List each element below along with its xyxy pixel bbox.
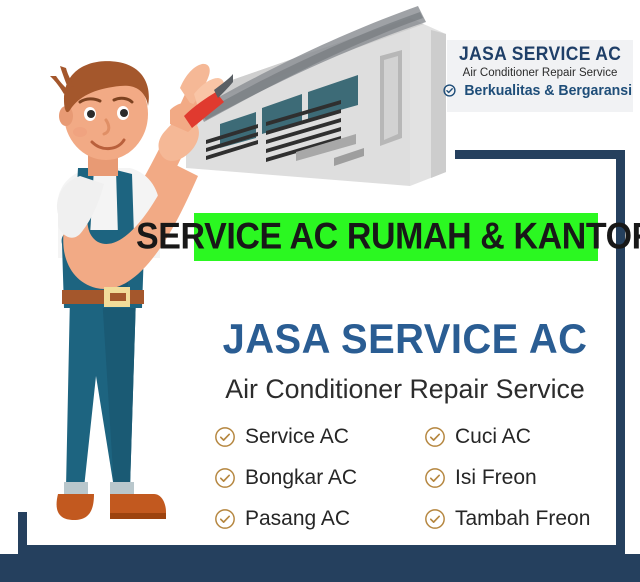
- badge-title: JASA SERVICE AC: [459, 44, 621, 66]
- technician-strap-right: [116, 170, 134, 236]
- list-item: Pasang AC: [214, 507, 424, 531]
- list-item: Tambah Freon: [424, 507, 614, 531]
- list-item-label: Isi Freon: [455, 466, 537, 490]
- list-item: Service AC: [214, 425, 424, 449]
- services-list: Service AC Cuci AC Bongkar AC Isi Freon: [214, 425, 614, 531]
- technician-cheek: [73, 127, 87, 137]
- technician-shoe-left: [57, 494, 94, 520]
- ac-side-shade: [431, 30, 446, 178]
- page-title: JASA SERVICE AC: [215, 316, 595, 362]
- badge-guarantee: Berkualitas & Bergaransi: [443, 82, 637, 99]
- list-item-label: Pasang AC: [245, 507, 350, 531]
- check-circle-icon: [214, 508, 236, 530]
- frame-right: [616, 150, 625, 545]
- check-circle-icon: [214, 467, 236, 489]
- poster-canvas: JASA SERVICE AC Air Conditioner Repair S…: [0, 0, 640, 582]
- technician-pupil-right: [120, 109, 128, 117]
- technician-pupil-left: [87, 110, 95, 118]
- list-item: Cuci AC: [424, 425, 614, 449]
- check-circle-icon: [424, 467, 446, 489]
- technician-cuff-right: [110, 482, 134, 494]
- check-circle-icon: [424, 508, 446, 530]
- check-circle-icon: [443, 84, 456, 97]
- promo-banner: SERVICE AC RUMAH & KANTOR: [194, 213, 598, 261]
- check-circle-icon: [424, 426, 446, 448]
- technician-illustration: [18, 58, 233, 555]
- frame-top-right: [455, 150, 625, 159]
- brand-badge: JASA SERVICE AC Air Conditioner Repair S…: [447, 40, 633, 112]
- list-item-label: Bongkar AC: [245, 466, 357, 490]
- promo-banner-text: SERVICE AC RUMAH & KANTOR: [136, 216, 640, 258]
- technician-cuff-left: [64, 482, 88, 494]
- list-item: Isi Freon: [424, 466, 614, 490]
- badge-subtitle: Air Conditioner Repair Service: [463, 66, 618, 81]
- ac-right-window-inner: [384, 56, 398, 140]
- frame-left: [18, 512, 27, 554]
- badge-guarantee-label: Berkualitas & Bergaransi: [464, 82, 632, 99]
- technician-belt: [62, 290, 144, 304]
- list-item-label: Service AC: [245, 425, 349, 449]
- list-item-label: Cuci AC: [455, 425, 531, 449]
- frame-bottom: [18, 545, 625, 554]
- technician-buckle-hole: [110, 293, 126, 301]
- page-subtitle: Air Conditioner Repair Service: [207, 372, 603, 406]
- technician-shoe-sole: [110, 513, 166, 519]
- frame-bottom-band: [0, 554, 640, 582]
- check-circle-icon: [214, 426, 236, 448]
- list-item: Bongkar AC: [214, 466, 424, 490]
- list-item-label: Tambah Freon: [455, 507, 590, 531]
